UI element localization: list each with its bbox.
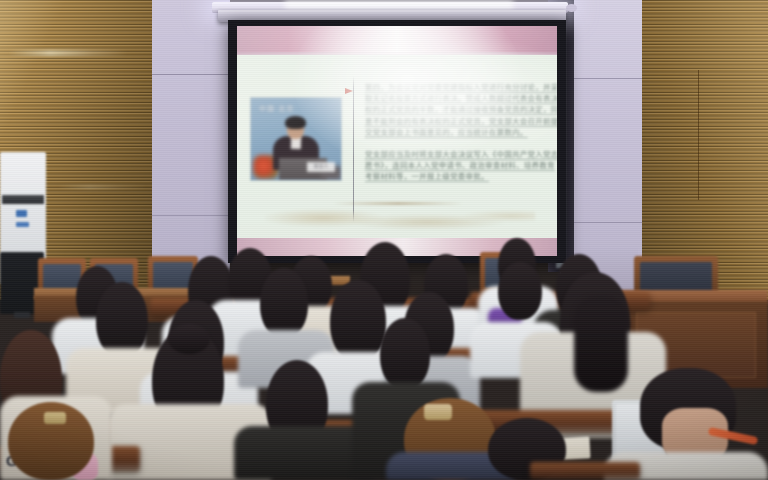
person-head [498, 262, 542, 320]
wood-wall-right-shading [638, 0, 768, 300]
slide-text-line: 愿书》，连同本人入党申请书、政治审查材料、培养教育 [365, 160, 545, 171]
hair-clip-icon [44, 412, 66, 424]
slide-inset-photo: 发言人 中国·北京 [251, 98, 341, 180]
slide-inkwash-line [333, 202, 463, 205]
person-head [380, 318, 430, 390]
person-head [260, 268, 308, 338]
slide-paragraph-2: 党支部应当及时将支部大会决议写入《中国共产党入党志 愿书》，连同本人入党申请书、… [365, 149, 545, 183]
ceiling-lamp-glow [284, 1, 514, 8]
photo-caption: 中国·北京 [259, 105, 315, 114]
plaster-panel-seam [152, 74, 230, 75]
bench-row-1-right[interactable] [530, 462, 640, 480]
person-hair-fall [574, 296, 628, 392]
speaker-hair [285, 116, 306, 129]
wall-glare-highlight [8, 50, 128, 56]
air-conditioner-label [16, 210, 27, 217]
person-hair-bun [168, 324, 210, 354]
air-conditioner-vent [2, 195, 44, 204]
hair-clip-icon [424, 404, 452, 420]
person-head [96, 282, 148, 358]
speaker-nameplate-label: 发言人 [309, 163, 333, 171]
wood-wall-seam [698, 70, 699, 200]
lecture-hall-photo: 发言人 中国·北京 第四，为会议党对党委党建指标入党进行充分讨论，并采 取无记名… [0, 0, 768, 480]
plaster-panel-seam [152, 215, 230, 216]
monitor-stand [14, 312, 30, 318]
projection-screen-surface[interactable]: 发言人 中国·北京 第四，为会议党对党委党建指标入党进行充分讨论，并采 取无记名… [237, 26, 557, 256]
slide-bullet-arrow-icon [345, 88, 353, 94]
slide-text-line: 考察材料等，一并报上级党委审批。 [365, 171, 545, 182]
person-head [330, 280, 386, 362]
air-conditioner-label-secondary [16, 222, 29, 227]
wall-glare-highlight-secondary [58, 185, 148, 189]
lamp-end-cap [566, 4, 577, 12]
